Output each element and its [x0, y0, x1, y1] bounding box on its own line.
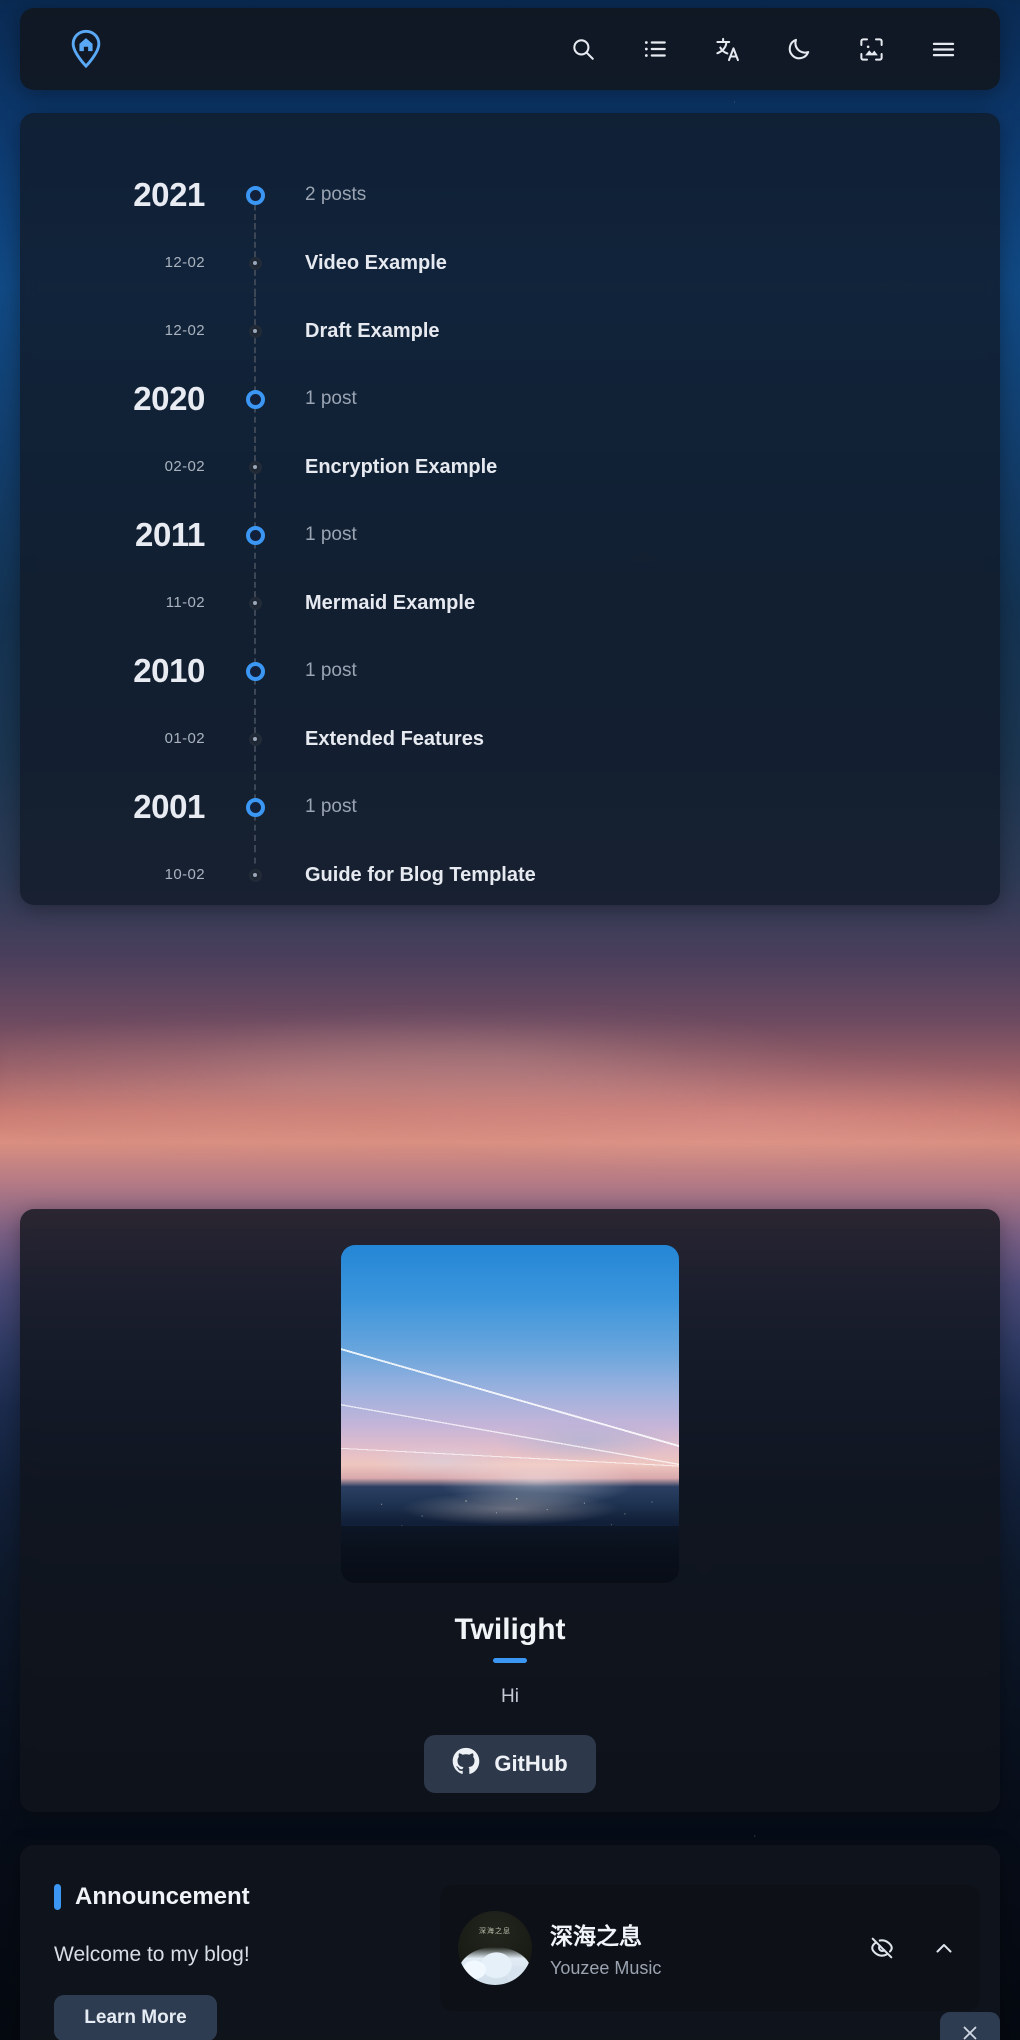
close-chip-button[interactable] [940, 2012, 1000, 2040]
timeline-date-cell: 12-02 [20, 254, 235, 272]
timeline-post-title[interactable]: Mermaid Example [305, 592, 475, 614]
profile-card: Twilight Hi GitHub [20, 1209, 1000, 1812]
timeline-post-count: 2 posts [305, 184, 366, 205]
timeline-post-row[interactable]: 02-02Encryption Example [20, 433, 1000, 501]
moon-icon[interactable] [784, 34, 814, 64]
timeline-post-title[interactable]: Guide for Blog Template [305, 864, 536, 886]
site-header [20, 8, 1000, 90]
timeline-year-row: 20201 post [20, 365, 1000, 433]
timeline-axis [235, 390, 275, 409]
timeline-post-dot [249, 733, 262, 746]
timeline-title-cell: Video Example [275, 252, 1000, 275]
music-artist: Youzee Music [550, 1958, 850, 1979]
timeline-year-row: 20111 post [20, 501, 1000, 569]
home-pin-logo[interactable] [68, 29, 104, 69]
timeline-axis [235, 798, 275, 817]
timeline-post-date: 12-02 [165, 254, 205, 271]
album-cover: 深海之息 [458, 1911, 532, 1985]
timeline-post-dot [249, 325, 262, 338]
search-icon[interactable] [568, 34, 598, 64]
timeline-year-dot [246, 798, 265, 817]
timeline-year-dot [246, 390, 265, 409]
timeline-date-cell: 01-02 [20, 730, 235, 748]
timeline-year-label: 2010 [133, 652, 205, 689]
translate-icon[interactable] [712, 34, 742, 64]
timeline-year-cell: 2020 [20, 380, 235, 418]
timeline-axis [235, 869, 275, 882]
timeline-post-count: 1 post [305, 388, 357, 409]
timeline-year-cell: 2021 [20, 176, 235, 214]
timeline-post-count: 1 post [305, 796, 357, 817]
timeline-post-count: 1 post [305, 524, 357, 545]
profile-name: Twilight [454, 1613, 565, 1647]
timeline-count-cell: 2 posts [275, 184, 1000, 206]
github-button[interactable]: GitHub [424, 1735, 595, 1793]
timeline-post-row[interactable]: 12-02Draft Example [20, 297, 1000, 365]
music-meta: 深海之息 Youzee Music [550, 1917, 850, 1979]
timeline-post-row[interactable]: 10-02Guide for Blog Template [20, 841, 1000, 905]
menu-icon[interactable] [928, 34, 958, 64]
timeline-post-title[interactable]: Draft Example [305, 320, 440, 342]
archive-timeline-card: 20212 posts12-02Video Example12-02Draft … [20, 113, 1000, 905]
timeline-title-cell: Encryption Example [275, 456, 1000, 479]
learn-more-button[interactable]: Learn More [54, 1995, 217, 2040]
timeline-count-cell: 1 post [275, 524, 1000, 546]
timeline-axis [235, 186, 275, 205]
timeline-year-label: 2011 [135, 516, 205, 553]
timeline-date-cell: 12-02 [20, 322, 235, 340]
timeline-count-cell: 1 post [275, 660, 1000, 682]
timeline-post-dot [249, 257, 262, 270]
timeline-post-row[interactable]: 01-02Extended Features [20, 705, 1000, 773]
music-actions [868, 1934, 958, 1962]
timeline-year-dot [246, 186, 265, 205]
album-cover-art [458, 1947, 532, 1985]
timeline-date-cell: 10-02 [20, 866, 235, 884]
timeline-axis [235, 597, 275, 610]
timeline-post-dot [249, 869, 262, 882]
timeline-post-date: 02-02 [165, 458, 205, 475]
name-underline [493, 1658, 527, 1663]
github-label: GitHub [494, 1751, 567, 1777]
timeline-post-title[interactable]: Extended Features [305, 728, 484, 750]
eye-off-icon[interactable] [868, 1934, 896, 1962]
timeline-title-cell: Guide for Blog Template [275, 864, 1000, 887]
timeline-year-label: 2001 [133, 788, 205, 825]
timeline-count-cell: 1 post [275, 388, 1000, 410]
chevron-up-icon[interactable] [930, 1934, 958, 1962]
timeline-post-date: 12-02 [165, 322, 205, 339]
timeline-post-title[interactable]: Encryption Example [305, 456, 497, 478]
timeline-year-label: 2021 [133, 176, 205, 213]
timeline-count-cell: 1 post [275, 796, 1000, 818]
timeline-axis [235, 733, 275, 746]
timeline-post-row[interactable]: 12-02Video Example [20, 229, 1000, 297]
album-cover-caption: 深海之息 [458, 1926, 532, 1936]
timeline-axis [235, 461, 275, 474]
timeline-post-count: 1 post [305, 660, 357, 681]
announcement-accent-bar [54, 1884, 61, 1910]
timeline-year-row: 20212 posts [20, 161, 1000, 229]
music-title: 深海之息 [550, 1917, 850, 1951]
list-icon[interactable] [640, 34, 670, 64]
timeline-axis [235, 257, 275, 270]
timeline-axis [235, 325, 275, 338]
timeline-post-title[interactable]: Video Example [305, 252, 447, 274]
announcement-title: Announcement [75, 1883, 250, 1911]
timeline-year-row: 20011 post [20, 773, 1000, 841]
twilight-landscape-avatar [341, 1245, 679, 1583]
timeline-year-dot [246, 526, 265, 545]
timeline-title-cell: Draft Example [275, 320, 1000, 343]
timeline-axis [235, 526, 275, 545]
timeline-year-row: 20101 post [20, 637, 1000, 705]
timeline-post-dot [249, 597, 262, 610]
timeline-date-cell: 02-02 [20, 458, 235, 476]
timeline-year-cell: 2011 [20, 516, 235, 554]
timeline-post-date: 11-02 [166, 594, 205, 611]
image-frame-icon[interactable] [856, 34, 886, 64]
music-player: 深海之息 深海之息 Youzee Music [440, 1885, 980, 2011]
timeline-year-cell: 2001 [20, 788, 235, 826]
timeline-post-date: 01-02 [165, 730, 205, 747]
timeline-post-date: 10-02 [165, 866, 205, 883]
profile-bio: Hi [501, 1686, 519, 1708]
timeline-year-dot [246, 662, 265, 681]
timeline-year-label: 2020 [133, 380, 205, 417]
avatar-foreground [341, 1526, 679, 1583]
timeline-title-cell: Mermaid Example [275, 592, 1000, 615]
timeline-post-row[interactable]: 11-02Mermaid Example [20, 569, 1000, 637]
github-icon [452, 1747, 480, 1781]
timeline-list: 20212 posts12-02Video Example12-02Draft … [20, 113, 1000, 905]
timeline-title-cell: Extended Features [275, 728, 1000, 751]
timeline-axis [235, 662, 275, 681]
timeline-post-dot [249, 461, 262, 474]
timeline-date-cell: 11-02 [20, 594, 235, 612]
timeline-year-cell: 2010 [20, 652, 235, 690]
header-icon-group [568, 34, 958, 64]
